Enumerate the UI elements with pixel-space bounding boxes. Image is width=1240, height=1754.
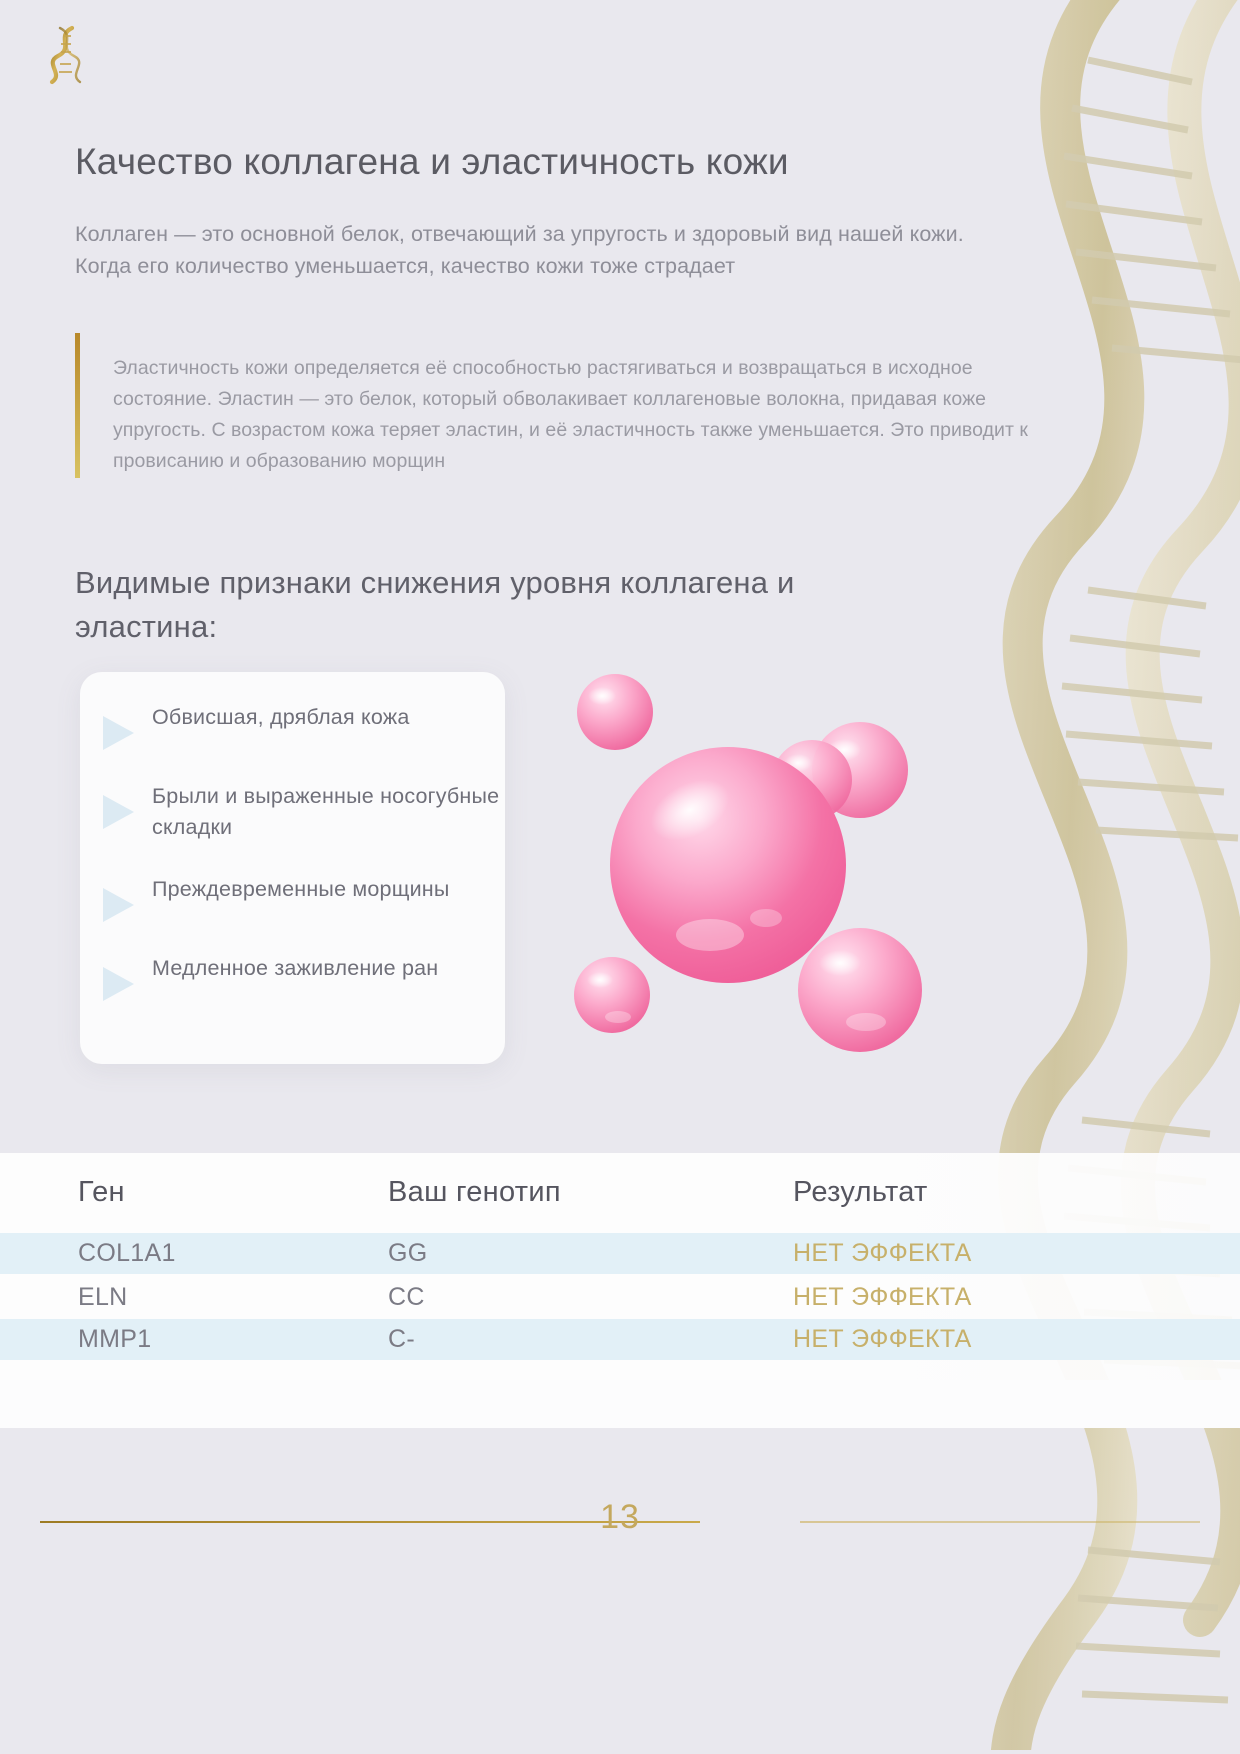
- list-item-label: Обвисшая, дряблая кожа: [152, 698, 410, 733]
- column-header-gene: Ген: [78, 1176, 125, 1209]
- intro-paragraph: Коллаген — это основной белок, отвечающи…: [75, 218, 995, 283]
- signs-list: Обвисшая, дряблая кожа Брыли и выраженны…: [103, 698, 503, 1028]
- cell-genotype: C-: [388, 1325, 415, 1354]
- pink-collagen-droplets-illustration: [560, 660, 1020, 1090]
- list-item[interactable]: Преждевременные морщины: [103, 870, 503, 922]
- cell-genotype: CC: [388, 1283, 425, 1312]
- column-header-result: Результат: [793, 1176, 928, 1209]
- cell-result: НЕТ ЭФФЕКТА: [793, 1239, 972, 1268]
- section-title: Видимые признаки снижения уровня коллаге…: [75, 561, 895, 649]
- table-row: MMP1 C- НЕТ ЭФФЕКТА: [0, 1319, 1240, 1360]
- table-bottom-spacer: [0, 1380, 1240, 1428]
- page-number: 13: [0, 1498, 1240, 1537]
- cell-gene: ELN: [78, 1283, 128, 1312]
- triangle-right-icon: [103, 967, 134, 1001]
- cell-gene: MMP1: [78, 1325, 151, 1354]
- list-item[interactable]: Обвисшая, дряблая кожа: [103, 698, 503, 750]
- list-item-label: Преждевременные морщины: [152, 870, 450, 905]
- list-item-label: Медленное заживление ран: [152, 949, 438, 984]
- page-title: Качество коллагена и эластичность кожи: [75, 140, 975, 184]
- quote-block: Эластичность кожи определяется её способ…: [75, 353, 1073, 478]
- dna-helix-icon: [38, 22, 94, 86]
- list-item-label: Брыли и выраженные носогубные складки: [152, 777, 503, 843]
- list-item[interactable]: Медленное заживление ран: [103, 949, 503, 1001]
- cell-gene: COL1A1: [78, 1239, 176, 1268]
- cell-result: НЕТ ЭФФЕКТА: [793, 1283, 972, 1312]
- table-header-row: Ген Ваш генотип Результат: [0, 1169, 1240, 1225]
- table-row: ELN CC НЕТ ЭФФЕКТА: [0, 1277, 1240, 1318]
- column-header-genotype: Ваш генотип: [388, 1176, 561, 1209]
- list-item[interactable]: Брыли и выраженные носогубные складки: [103, 777, 503, 843]
- triangle-right-icon: [103, 716, 134, 750]
- triangle-right-icon: [103, 888, 134, 922]
- cell-genotype: GG: [388, 1239, 428, 1268]
- triangle-right-icon: [103, 795, 134, 829]
- cell-result: НЕТ ЭФФЕКТА: [793, 1325, 972, 1354]
- table-row: COL1A1 GG НЕТ ЭФФЕКТА: [0, 1233, 1240, 1274]
